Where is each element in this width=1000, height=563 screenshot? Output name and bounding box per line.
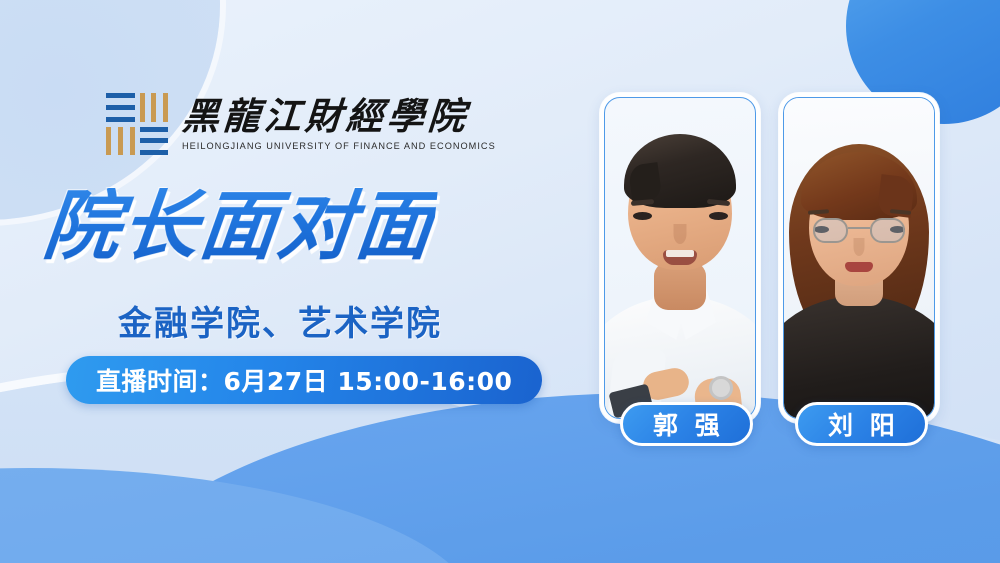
speaker-photo-frame-2 [783,97,935,419]
speaker-name-badge-1: 郭 强 [620,402,753,446]
speaker-photo-card-1 [600,93,760,423]
speaker-name-badge-2: 刘 阳 [795,402,928,446]
speaker-name-2: 刘 阳 [824,406,899,442]
woman-portrait [784,98,934,418]
university-name-cn: 黑龍江財經學院 [181,97,497,136]
speaker-photo-card-2 [779,93,939,423]
speaker-photo-frame-1 [604,97,756,419]
hufe-logo-mark-icon [106,93,168,155]
university-logo: 黑龍江財經學院 HEILONGJIANG UNIVERSITY OF FINAN… [106,93,496,155]
live-stream-poster: 黑龍江財經學院 HEILONGJIANG UNIVERSITY OF FINAN… [0,0,1000,563]
live-time-badge: 直播时间：6月27日 15:00-16:00 [66,356,542,404]
logo-text-block: 黑龍江財經學院 HEILONGJIANG UNIVERSITY OF FINAN… [182,97,496,151]
logo-mark-quadrant-bottom-right [140,127,169,156]
logo-mark-quadrant-top-left [106,93,135,122]
live-time-text: 直播时间：6月27日 15:00-16:00 [96,362,512,398]
speaker-name-1: 郭 强 [649,406,724,442]
logo-mark-quadrant-bottom-left [106,127,135,156]
page-title: 院长面对面 [40,188,438,264]
man-portrait [605,98,755,418]
background-wave-blue-left [0,468,480,563]
page-subtitle: 金融学院、艺术学院 [118,296,442,345]
university-name-en: HEILONGJIANG UNIVERSITY OF FINANCE AND E… [182,141,496,151]
logo-mark-quadrant-top-right [140,93,169,122]
